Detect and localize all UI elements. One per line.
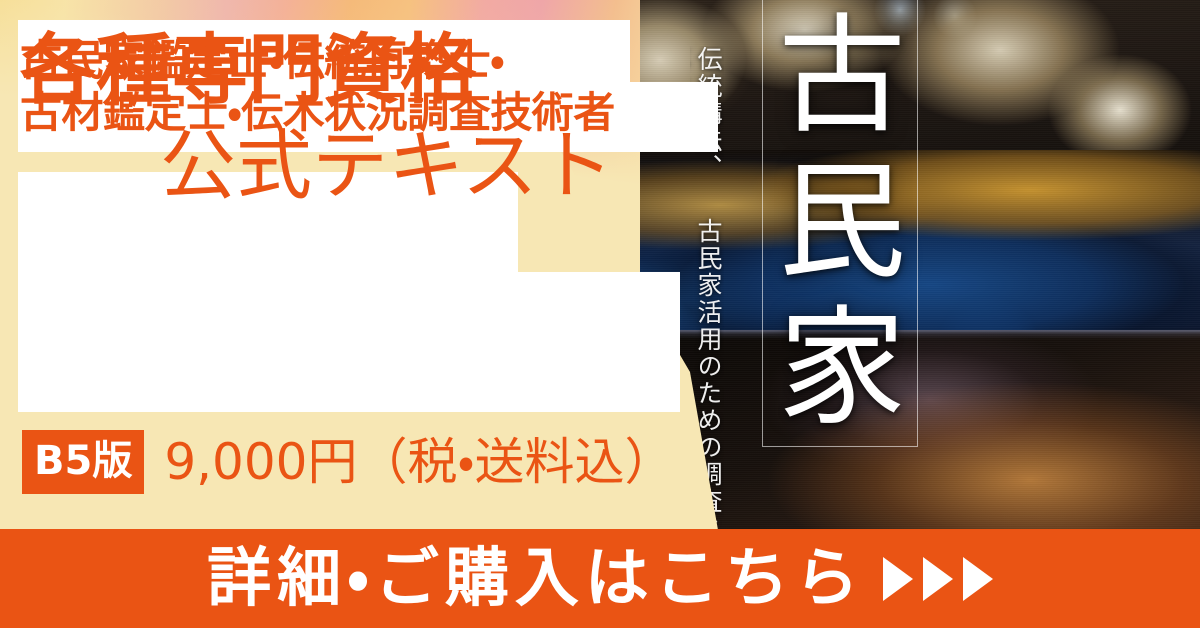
triangle-right-icon: [963, 557, 993, 601]
cover-title: 古 民 家: [778, 4, 900, 444]
format-badge: B5版: [22, 430, 144, 494]
triangle-right-icon: [923, 557, 953, 601]
price-amount: 9,000円（税・送料込）: [164, 437, 674, 487]
promo-banner: 古 民 家 伝統構法、 古民家活用のための調査と再生の 古民家鑑定士・伝統再築士…: [0, 0, 1200, 628]
cta-bar[interactable]: 詳細・ご購入はこちら: [0, 529, 1200, 628]
headline-line-2: 公式テキスト: [160, 128, 614, 204]
price-row: B5版 9,000円（税・送料込）: [22, 430, 674, 494]
cta-arrows: [883, 557, 993, 601]
cta-label: 詳細・ご購入はこちら: [207, 547, 865, 611]
headline-line-1: 各種専門資格: [20, 32, 476, 108]
triangle-right-icon: [883, 557, 913, 601]
